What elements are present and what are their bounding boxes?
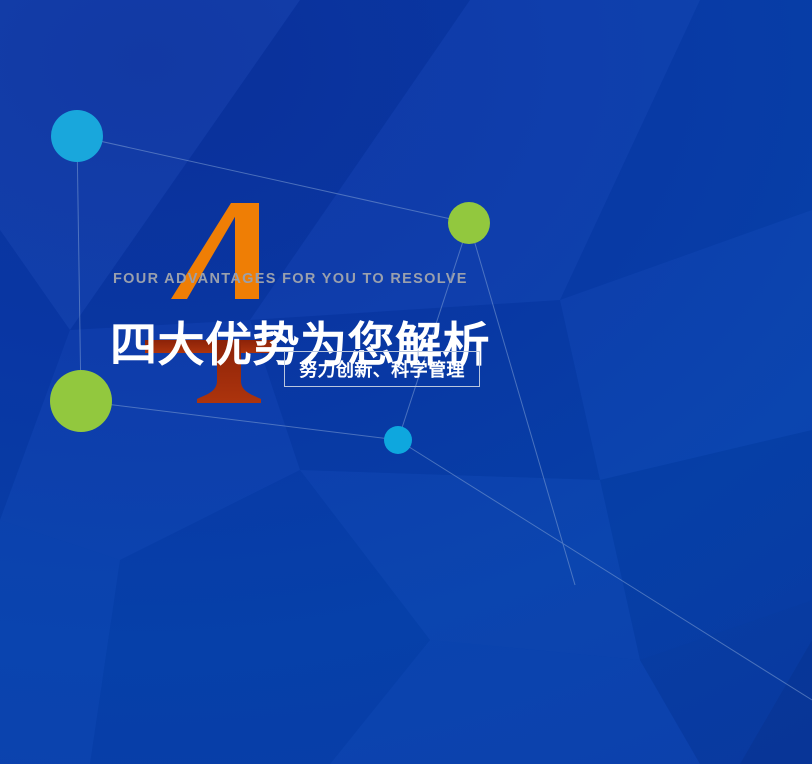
promo-banner: FOUR ADVANTAGES FOR YOU TO RESOLVE 四大优势为… (0, 0, 812, 764)
tagline-box: 努力创新、科学管理 (284, 351, 480, 387)
eyebrow-text: FOUR ADVANTAGES FOR YOU TO RESOLVE (113, 272, 468, 287)
banner-content: FOUR ADVANTAGES FOR YOU TO RESOLVE 四大优势为… (0, 0, 812, 764)
tagline-text: 努力创新、科学管理 (299, 356, 465, 382)
